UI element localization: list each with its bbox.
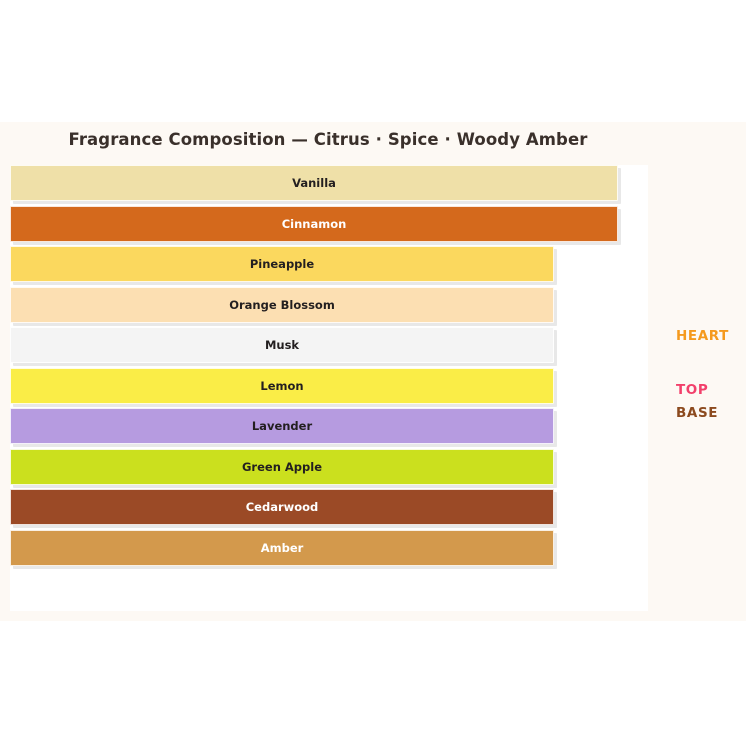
- bar-row: Lavender: [10, 408, 648, 444]
- figure-area: Fragrance Composition — Citrus · Spice ·…: [0, 122, 746, 621]
- bar-cedarwood[interactable]: [10, 489, 554, 525]
- bar-series: VanillaCinnamonPineappleOrange BlossomMu…: [10, 165, 648, 611]
- bar-cinnamon[interactable]: [10, 206, 618, 242]
- bar-row: Cinnamon: [10, 206, 648, 242]
- chart-canvas: Fragrance Composition — Citrus · Spice ·…: [0, 0, 746, 746]
- stage-label-base: BASE: [676, 405, 718, 421]
- bar-row: Vanilla: [10, 165, 648, 201]
- stage-label-heart: HEART: [676, 328, 729, 344]
- bar-vanilla[interactable]: [10, 165, 618, 201]
- bar-row: Lemon: [10, 368, 648, 404]
- bar-musk[interactable]: [10, 327, 554, 363]
- bar-row: Pineapple: [10, 246, 648, 282]
- bar-lemon[interactable]: [10, 368, 554, 404]
- bar-amber[interactable]: [10, 530, 554, 566]
- bar-row: Musk: [10, 327, 648, 363]
- bar-green-apple[interactable]: [10, 449, 554, 485]
- bar-lavender[interactable]: [10, 408, 554, 444]
- bar-row: Amber: [10, 530, 648, 566]
- bar-row: Green Apple: [10, 449, 648, 485]
- bar-row: Orange Blossom: [10, 287, 648, 323]
- bar-row: Cedarwood: [10, 489, 648, 525]
- bar-pineapple[interactable]: [10, 246, 554, 282]
- chart-title: Fragrance Composition — Citrus · Spice ·…: [0, 130, 656, 149]
- plot-axes: VanillaCinnamonPineappleOrange BlossomMu…: [10, 165, 648, 611]
- stage-label-top: TOP: [676, 382, 708, 398]
- bar-orange-blossom[interactable]: [10, 287, 554, 323]
